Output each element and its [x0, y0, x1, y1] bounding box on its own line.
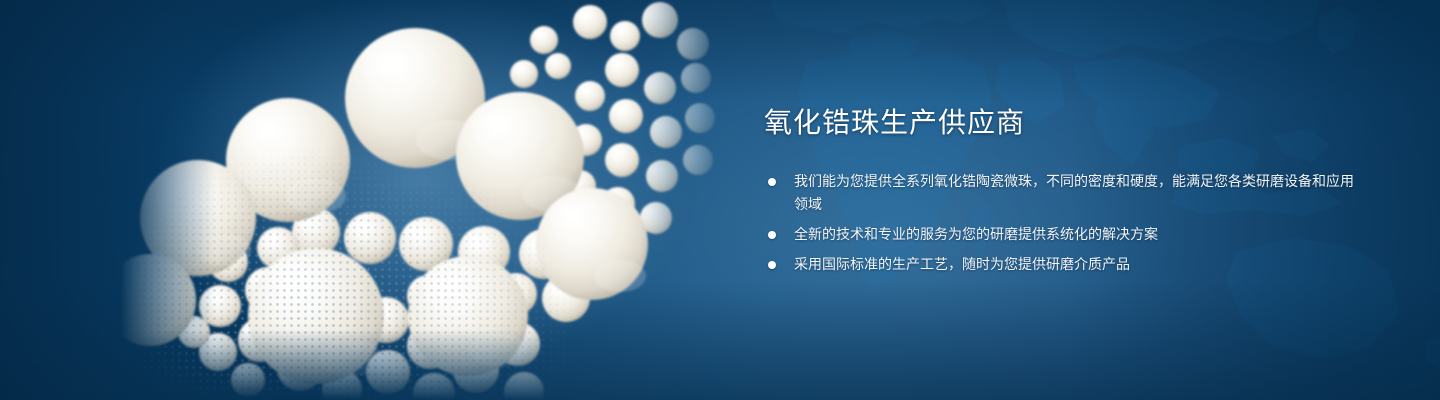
zirconia-beads-photo	[120, 0, 730, 400]
page-title: 氧化锆珠生产供应商	[764, 106, 1364, 140]
list-item: 我们能为您提供全系列氧化锆陶瓷微珠，不同的密度和硬度，能满足您各类研磨设备和应用…	[764, 170, 1364, 216]
list-item: 全新的技术和专业的服务为您的研磨提供系统化的解决方案	[764, 223, 1364, 246]
list-item-label: 采用国际标准的生产工艺，随时为您提供研磨介质产品	[794, 253, 1364, 276]
bullet-dot-icon	[768, 261, 776, 269]
hero-banner: 氧化锆珠生产供应商 我们能为您提供全系列氧化锆陶瓷微珠，不同的密度和硬度，能满足…	[0, 0, 1440, 400]
list-item: 采用国际标准的生产工艺，随时为您提供研磨介质产品	[764, 253, 1364, 276]
banner-copy: 氧化锆珠生产供应商 我们能为您提供全系列氧化锆陶瓷微珠，不同的密度和硬度，能满足…	[764, 106, 1364, 276]
list-item-label: 全新的技术和专业的服务为您的研磨提供系统化的解决方案	[794, 223, 1364, 246]
feature-list: 我们能为您提供全系列氧化锆陶瓷微珠，不同的密度和硬度，能满足您各类研磨设备和应用…	[764, 170, 1364, 276]
bullet-dot-icon	[768, 178, 776, 186]
list-item-label: 我们能为您提供全系列氧化锆陶瓷微珠，不同的密度和硬度，能满足您各类研磨设备和应用…	[794, 170, 1364, 216]
bullet-dot-icon	[768, 231, 776, 239]
halftone-texture	[120, 0, 730, 400]
